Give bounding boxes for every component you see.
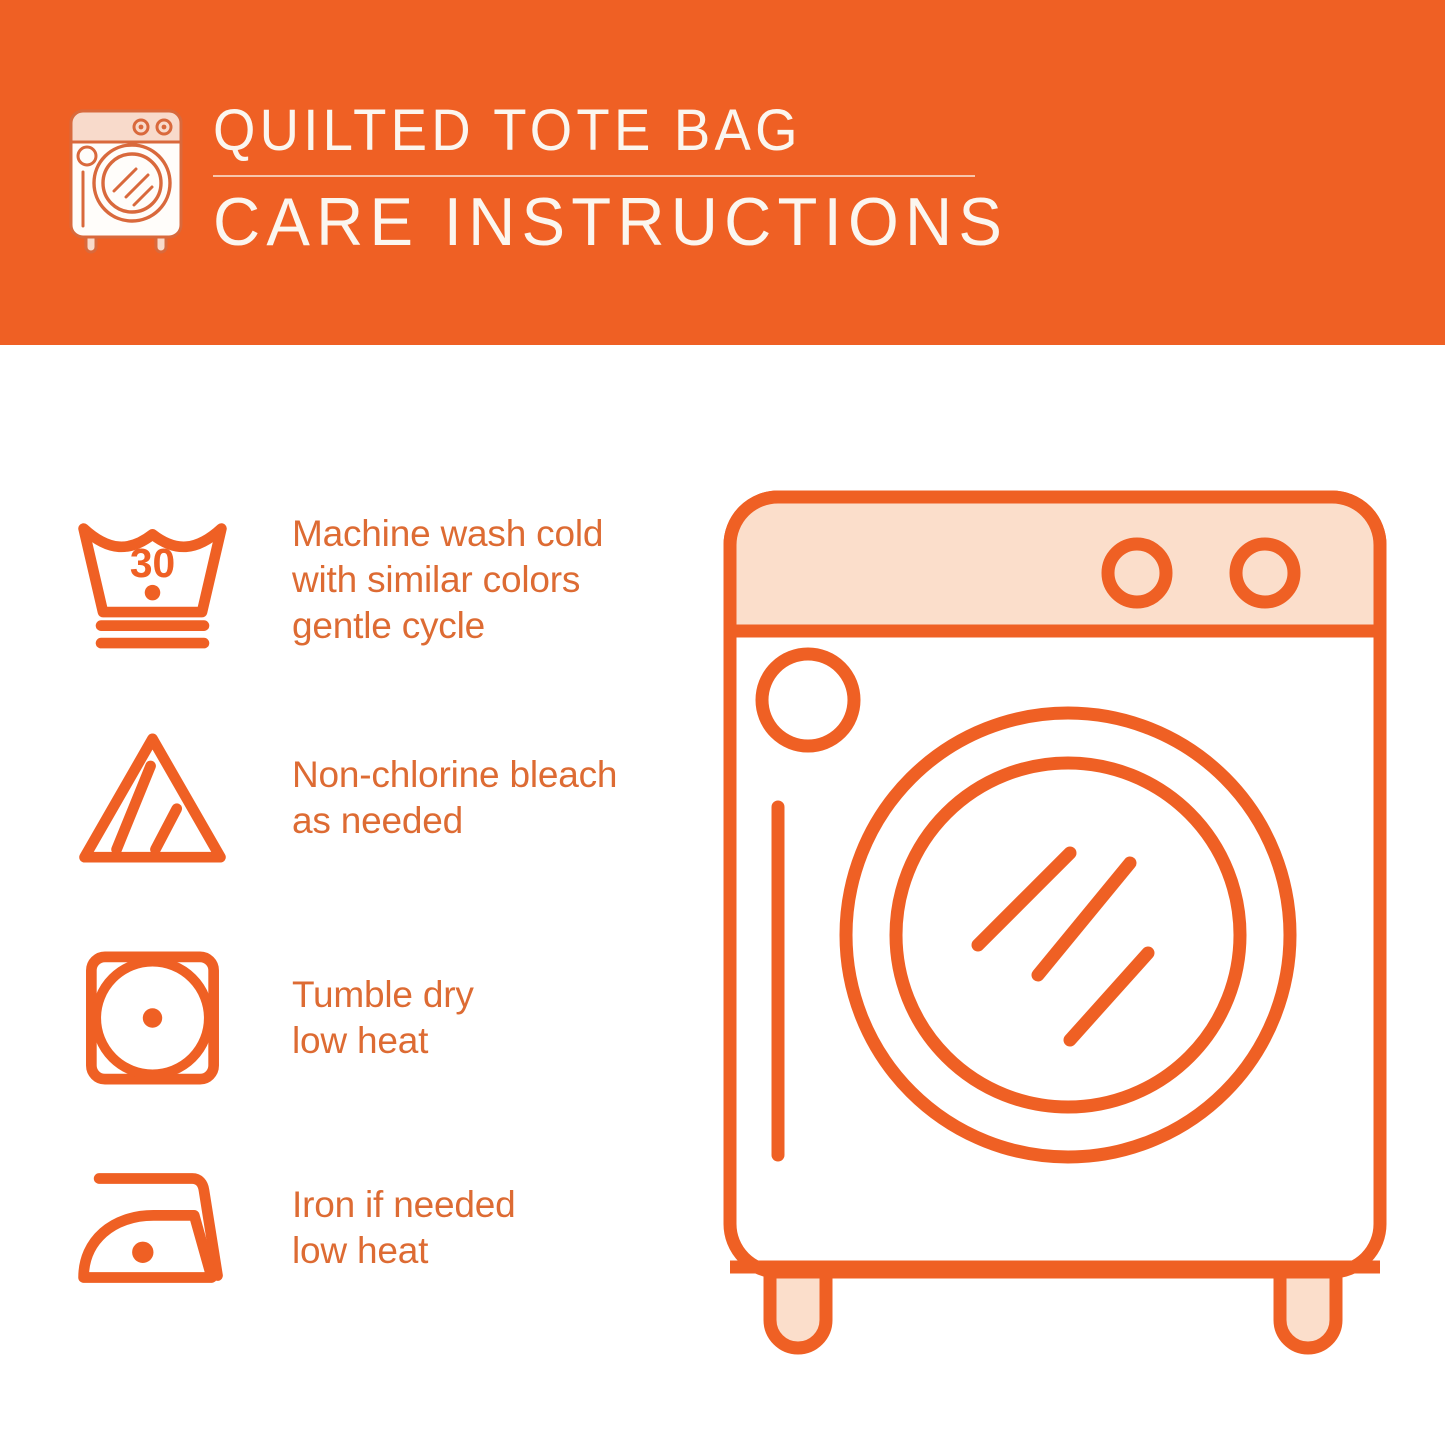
care-row-bleach: Non-chlorine bleach as needed [70,715,690,880]
care-text-line: Tumble dry [292,972,474,1018]
header-text-block: QUILTED TOTE BAG CARE INSTRUCTIONS [213,100,983,258]
tumble-dry-icon [70,935,235,1100]
care-text-bleach: Non-chlorine bleach as needed [292,752,617,844]
care-row-iron: Iron if needed low heat [70,1145,690,1310]
header-divider [213,175,975,177]
page-title: QUILTED TOTE BAG [213,100,937,162]
page-subtitle: CARE INSTRUCTIONS [213,186,952,258]
care-text-line: Non-chlorine bleach [292,752,617,798]
wash-temperature-label: 30 [130,540,175,586]
machine-wash-tub-icon: 30 [70,497,235,662]
header-band: QUILTED TOTE BAG CARE INSTRUCTIONS [0,0,1445,345]
washing-machine-illustration [700,455,1410,1385]
care-text-line: Iron if needed [292,1182,515,1228]
care-instruction-list: 30 Machine wash cold with similar colors… [0,345,700,1445]
care-text-line: Machine wash cold [292,511,603,557]
washing-machine-icon [62,103,190,255]
care-text-iron: Iron if needed low heat [292,1182,515,1274]
care-text-line: as needed [292,798,617,844]
care-text-line: with similar colors [292,557,603,603]
care-text-tumble-dry: Tumble dry low heat [292,972,474,1064]
care-text-line: gentle cycle [292,603,603,649]
care-text-line: low heat [292,1018,474,1064]
care-text-line: low heat [292,1228,515,1274]
care-row-machine-wash: 30 Machine wash cold with similar colors… [70,497,690,662]
iron-icon [70,1145,235,1310]
care-row-tumble-dry: Tumble dry low heat [70,935,690,1100]
non-chlorine-bleach-triangle-icon [70,715,235,880]
care-text-machine-wash: Machine wash cold with similar colors ge… [292,511,603,649]
